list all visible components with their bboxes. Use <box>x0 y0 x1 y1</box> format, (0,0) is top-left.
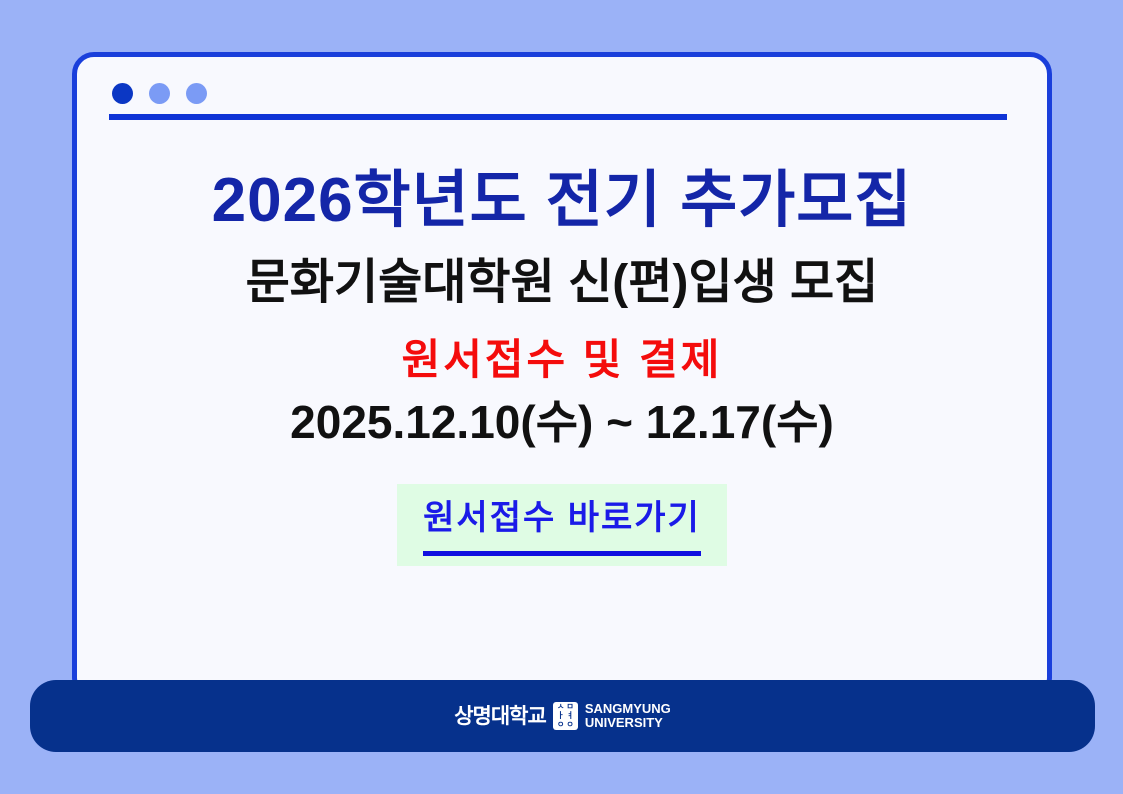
apply-link-button[interactable]: 원서접수 바로가기 <box>397 484 727 566</box>
window-dot-light-1-icon <box>149 83 170 104</box>
poster-card: 2026학년도 전기 추가모집 문화기술대학원 신(편)입생 모집 원서접수 및… <box>72 52 1052 700</box>
brand-name-english: SANGMYUNG UNIVERSITY <box>585 702 671 729</box>
emblem-glyph-2: ㅏ <box>557 712 564 720</box>
emblem-row-bottom: ㅇ ㅇ <box>557 721 574 729</box>
header-divider <box>109 114 1007 120</box>
window-dot-dark-icon <box>112 83 133 104</box>
brand-english-line-1: SANGMYUNG <box>585 702 671 716</box>
emblem-glyph-5: ㅇ <box>566 721 573 729</box>
emblem-glyph-3: ㅕ <box>566 712 573 720</box>
emblem-glyph-1: ㅁ <box>566 703 573 711</box>
university-emblem-icon: ㅅ ㅁ ㅏ ㅕ ㅇ ㅇ <box>553 702 578 730</box>
brand-name-korean: 상명대학교 <box>454 706 546 727</box>
emblem-row-top: ㅅ ㅁ <box>557 703 574 711</box>
poster-content: 2026학년도 전기 추가모집 문화기술대학원 신(편)입생 모집 원서접수 및… <box>77 167 1047 566</box>
application-payment-label: 원서접수 및 결제 <box>77 336 1047 384</box>
university-brand-lockup: 상명대학교 ㅅ ㅁ ㅏ ㅕ ㅇ ㅇ SANGMYUNG UNIVERSITY <box>454 702 671 730</box>
apply-link-underline <box>423 551 701 556</box>
emblem-glyph-0: ㅅ <box>557 703 564 711</box>
poster-subtitle: 문화기술대학원 신(편)입생 모집 <box>77 255 1047 310</box>
application-date-range: 2025.12.10(수) ~ 12.17(수) <box>77 395 1047 450</box>
footer-bar: 상명대학교 ㅅ ㅁ ㅏ ㅕ ㅇ ㅇ SANGMYUNG UNIVERSITY <box>30 680 1095 752</box>
emblem-row-middle: ㅏ ㅕ <box>557 712 574 720</box>
apply-link-label[interactable]: 원서접수 바로가기 <box>423 498 701 539</box>
page-title: 2026학년도 전기 추가모집 <box>77 167 1047 235</box>
window-dot-light-2-icon <box>186 83 207 104</box>
brand-english-line-2: UNIVERSITY <box>585 716 671 730</box>
emblem-glyph-4: ㅇ <box>557 721 564 729</box>
window-dots-group <box>112 83 207 104</box>
